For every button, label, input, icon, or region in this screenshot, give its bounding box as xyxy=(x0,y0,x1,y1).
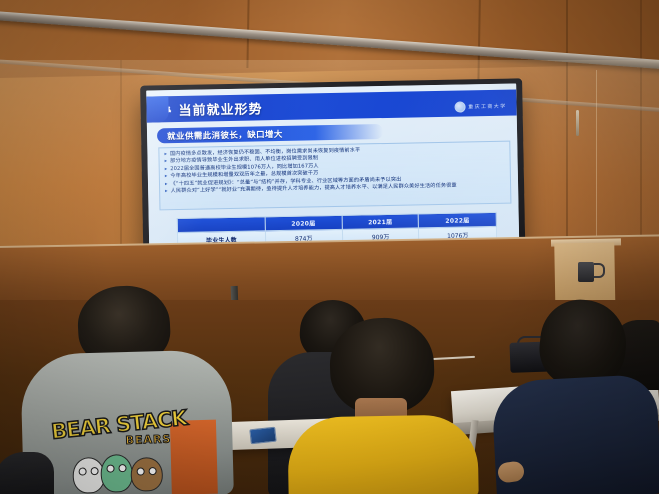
crest-mark xyxy=(454,101,465,112)
bullet-marker-icon: ▸ xyxy=(165,159,168,166)
person-far-left-partial xyxy=(0,452,54,494)
cartoon-bear-icon xyxy=(100,454,133,493)
bear-eye xyxy=(149,467,157,475)
table-header-2022: 2022届 xyxy=(419,212,497,227)
bullet-marker-icon: ▸ xyxy=(165,173,168,180)
table-header-2021: 2021届 xyxy=(342,214,419,229)
bear-eye xyxy=(90,467,98,475)
student-yellow-tee-body xyxy=(287,414,478,494)
cartoon-bear-icon xyxy=(130,457,163,492)
bullet-marker-icon: ▸ xyxy=(164,151,167,158)
university-name: 重庆工商大学 xyxy=(468,103,507,111)
bear-eye xyxy=(137,467,145,475)
classroom-scene: 当前就业形势 重庆工商大学 就业供需此消彼长，缺口增大 ▸ 国内疫情多点散发，经… xyxy=(0,0,659,494)
bear-eye xyxy=(106,464,114,472)
door-handle[interactable] xyxy=(576,110,579,136)
title-notch xyxy=(146,96,168,122)
slide-bullet-list: ▸ 国内疫情多点散发，经济恢复仍不稳固、不均衡，岗位需求尚未恢复到疫情前水平 ▸… xyxy=(158,141,511,211)
slide-subheading-banner: 就业供需此消彼长，缺口增大 xyxy=(157,124,383,143)
slide-subheading: 就业供需此消彼长，缺口增大 xyxy=(167,127,283,141)
smartphone-on-table[interactable] xyxy=(249,427,276,445)
bear-eye xyxy=(78,467,86,475)
kettle-handle xyxy=(594,263,605,278)
bear-eye xyxy=(118,464,126,472)
university-crest-icon: 重庆工商大学 xyxy=(454,101,507,113)
electric-kettle xyxy=(578,262,594,282)
slide-title-bar: 当前就业形势 重庆工商大学 xyxy=(146,89,516,122)
slide-title: 当前就业形势 xyxy=(178,98,262,119)
door-edge xyxy=(596,70,597,260)
bullet-marker-icon: ▸ xyxy=(165,181,168,188)
tshirt-graphic: BEAR STACK BEARS xyxy=(51,409,204,494)
table-header-2020: 2020届 xyxy=(265,215,342,230)
bullet-marker-icon: ▸ xyxy=(165,166,168,173)
bullet-marker-icon: ▸ xyxy=(165,188,168,195)
